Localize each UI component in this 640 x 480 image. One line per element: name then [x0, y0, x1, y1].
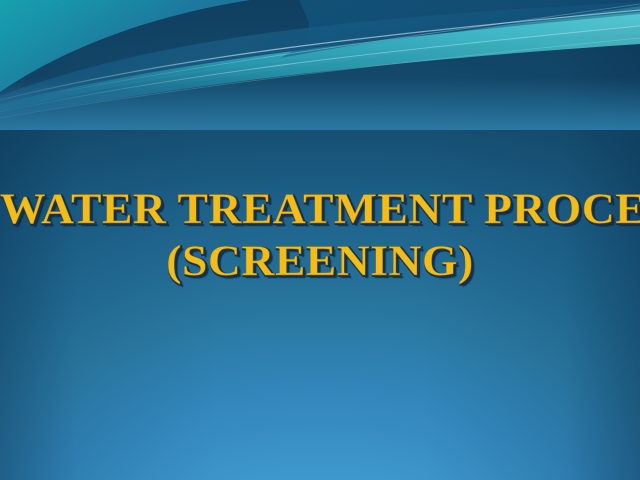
title-slide: WATER TREATMENT PROCESS (SCREENING)	[0, 0, 640, 480]
title-line-2: (SCREENING)	[0, 238, 640, 286]
slide-title: WATER TREATMENT PROCESS (SCREENING)	[0, 186, 640, 286]
title-line-1: WATER TREATMENT PROCESS	[0, 186, 640, 234]
